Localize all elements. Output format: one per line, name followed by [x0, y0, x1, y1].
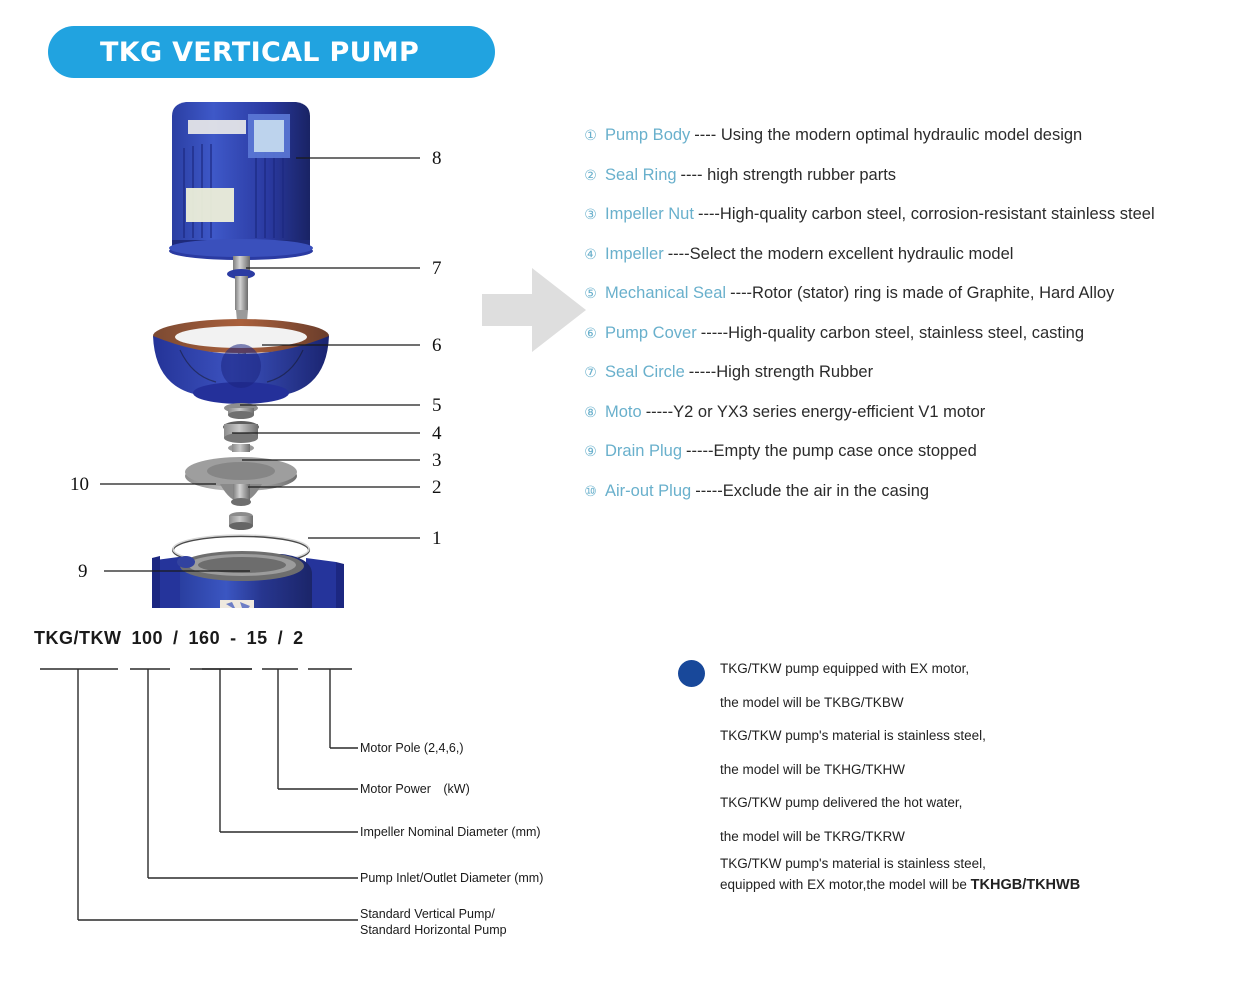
- variant-note-line-emphasis: equipped with EX motor,the model will be…: [720, 874, 1216, 895]
- part-pump-body: [152, 551, 344, 608]
- legend-description: ----Select the modern excellent hydrauli…: [668, 245, 1014, 264]
- legend-number-icon: ⑧: [580, 405, 601, 421]
- legend-item-6: ⑥ Pump Cover -----High-quality carbon st…: [580, 324, 1230, 364]
- variant-note-line: TKG/TKW pump equipped with EX motor,: [720, 652, 1216, 686]
- legend-part-name: Seal Circle: [605, 363, 685, 382]
- callout-number-4: 4: [432, 424, 442, 443]
- legend-part-name: Seal Ring: [605, 166, 677, 185]
- page-title-banner: TKG VERTICAL PUMP: [48, 26, 495, 78]
- legend-part-name: Mechanical Seal: [605, 284, 726, 303]
- legend-description: -----Empty the pump case once stopped: [686, 442, 977, 461]
- legend-description: -----Y2 or YX3 series energy-efficient V…: [646, 403, 986, 422]
- legend-description: -----High-quality carbon steel, stainles…: [701, 324, 1084, 343]
- legend-item-3: ③ Impeller Nut ----High-quality carbon s…: [580, 205, 1230, 245]
- legend-item-2: ② Seal Ring ---- high strength rubber pa…: [580, 166, 1230, 206]
- variant-note-line: the model will be TKBG/TKBW: [720, 686, 1216, 720]
- legend-item-4: ④ Impeller ----Select the modern excelle…: [580, 245, 1230, 285]
- legend-number-icon: ②: [580, 168, 601, 184]
- callout-number-9: 9: [78, 562, 88, 581]
- callout-number-1: 1: [432, 529, 442, 548]
- legend-number-icon: ⑦: [580, 365, 601, 381]
- legend-number-icon: ⑩: [580, 484, 601, 500]
- legend-description: ----High-quality carbon steel, corrosion…: [698, 205, 1155, 224]
- variant-note-line: TKG/TKW pump's material is stainless ste…: [720, 853, 1216, 874]
- legend-description: -----High strength Rubber: [689, 363, 873, 382]
- variant-note-line: the model will be TKRG/TKRW: [720, 820, 1216, 854]
- model-code-designation: TKG/TKW100/160-15/2: [0, 628, 620, 958]
- code-label-motor-pole: Motor Pole (2,4,6,): [360, 740, 464, 756]
- part-impeller-nut: [229, 512, 253, 530]
- legend-number-icon: ⑨: [580, 444, 601, 460]
- legend-number-icon: ①: [580, 128, 601, 144]
- legend-number-icon: ③: [580, 207, 601, 223]
- page-title: TKG VERTICAL PUMP: [100, 37, 419, 68]
- legend-part-name: Impeller: [605, 245, 664, 264]
- legend-number-icon: ⑤: [580, 286, 601, 302]
- legend-description: ---- Using the modern optimal hydraulic …: [694, 126, 1082, 145]
- legend-description: ----Rotor (stator) ring is made of Graph…: [730, 284, 1114, 303]
- callout-number-6: 6: [432, 336, 442, 355]
- code-label-motor-power: Motor Power (kW): [360, 781, 470, 797]
- callout-number-8: 8: [432, 149, 442, 168]
- legend-number-icon: ④: [580, 247, 601, 263]
- parts-legend: ① Pump Body ---- Using the modern optima…: [580, 126, 1230, 521]
- callout-number-10: 10: [70, 475, 89, 494]
- variant-notes-block: TKG/TKW pump equipped with EX motor, the…: [676, 652, 1216, 895]
- legend-number-icon: ⑥: [580, 326, 601, 342]
- legend-part-name: Drain Plug: [605, 442, 682, 461]
- flow-arrow: [482, 262, 586, 358]
- code-label-impeller-diameter: Impeller Nominal Diameter (mm): [360, 824, 541, 840]
- legend-description: ---- high strength rubber parts: [681, 166, 897, 185]
- callout-number-5: 5: [432, 396, 442, 415]
- code-label-standard-vertical-pump: Standard Vertical Pump/: [360, 906, 495, 922]
- part-motor: [169, 102, 313, 260]
- legend-part-name: Moto: [605, 403, 642, 422]
- part-pump-cover: [153, 319, 329, 404]
- variant-note-line: TKG/TKW pump delivered the hot water,: [720, 786, 1216, 820]
- legend-item-10: ⑩ Air-out Plug -----Exclude the air in t…: [580, 482, 1230, 522]
- bullet-dot-icon: [678, 660, 705, 687]
- legend-item-5: ⑤ Mechanical Seal ----Rotor (stator) rin…: [580, 284, 1230, 324]
- legend-item-1: ① Pump Body ---- Using the modern optima…: [580, 126, 1230, 166]
- code-label-standard-horizontal-pump: Standard Horizontal Pump: [360, 922, 507, 938]
- callout-number-2: 2: [432, 478, 442, 497]
- exploded-pump-figure: [60, 88, 480, 608]
- model-code-bracket-lines: [0, 628, 620, 958]
- part-impeller: [185, 457, 297, 506]
- callout-number-7: 7: [432, 259, 442, 278]
- legend-part-name: Impeller Nut: [605, 205, 694, 224]
- variant-note-model: TKHGB/TKHWB: [971, 877, 1081, 893]
- legend-item-9: ⑨ Drain Plug -----Empty the pump case on…: [580, 442, 1230, 482]
- variant-note-line: the model will be TKHG/TKHW: [720, 753, 1216, 787]
- callout-number-3: 3: [432, 451, 442, 470]
- legend-item-7: ⑦ Seal Circle -----High strength Rubber: [580, 363, 1230, 403]
- legend-part-name: Air-out Plug: [605, 482, 691, 501]
- legend-item-8: ⑧ Moto -----Y2 or YX3 series energy-effi…: [580, 403, 1230, 443]
- legend-description: -----Exclude the air in the casing: [695, 482, 929, 501]
- part-mechanical-seal: [223, 403, 259, 452]
- legend-part-name: Pump Body: [605, 126, 690, 145]
- legend-part-name: Pump Cover: [605, 324, 697, 343]
- variant-note-line: TKG/TKW pump's material is stainless ste…: [720, 719, 1216, 753]
- variant-note-text: equipped with EX motor,the model will be: [720, 877, 971, 892]
- code-label-inlet-outlet-diameter: Pump Inlet/Outlet Diameter (mm): [360, 870, 543, 886]
